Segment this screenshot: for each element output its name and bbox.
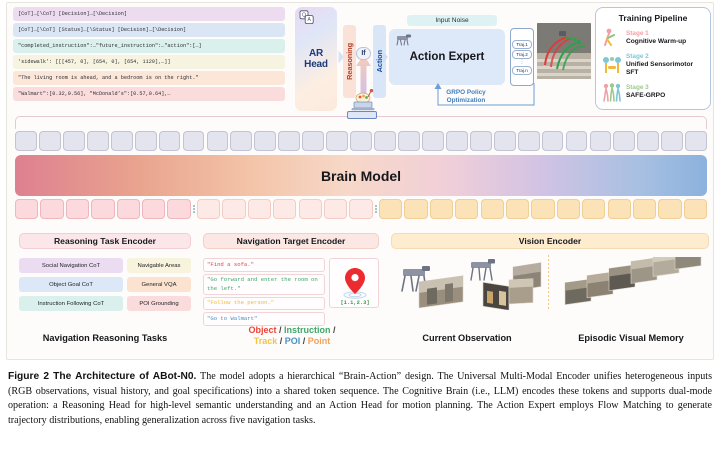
token-cell: [350, 131, 372, 151]
training-stage-number: Stage 1: [626, 30, 704, 38]
training-stage-icon: [602, 27, 622, 49]
token-line: "completed_instruction":…"future_instruc…: [13, 39, 285, 53]
modality-legend-separator: /: [277, 336, 285, 346]
modality-legend-separator: /: [331, 325, 336, 335]
training-pipeline-card: Training Pipeline Stage 1Cognitive Warm-…: [595, 7, 711, 110]
chevron-right-icon-2: [382, 50, 389, 64]
grpo-line2: Optimization: [447, 97, 486, 104]
token-cell: [15, 199, 38, 219]
token-line: "Walmart":[0.32,0.56], "McDonald’s":[0.5…: [13, 87, 285, 101]
token-cell: [455, 199, 478, 219]
traj-ellipsis: ⋮: [520, 60, 525, 65]
figure-caption-title: Figure 2 The Architecture of ABot-N0.: [8, 371, 196, 382]
token-cell: [633, 199, 656, 219]
current-observation-multi-view: [469, 258, 543, 310]
token-cell: [222, 199, 245, 219]
navigation-target-line: "Follow the person.": [203, 297, 325, 311]
reasoning-task-tag: Object Goal CoT: [19, 277, 123, 292]
mode-switch-arrow-icon: [355, 55, 372, 93]
token-cell: [87, 131, 109, 151]
training-stage-name: SAFE-GRPO: [626, 92, 704, 100]
navigation-tasks-caption: Navigation Reasoning Tasks: [17, 333, 193, 343]
trajectory-list: Traj.1Traj.2⋮Traj.n: [510, 28, 534, 86]
vision-encoder-header: Vision Encoder: [391, 233, 709, 249]
token-cell: [248, 199, 271, 219]
token-cell: [278, 131, 300, 151]
token-cell: [590, 131, 612, 151]
token-cell: [506, 199, 529, 219]
action-expert-block: Action Expert: [389, 29, 505, 85]
point-goal-box: [1.1,2.3]: [329, 258, 379, 308]
laptop-icon: [350, 89, 376, 111]
navigation-target-line: "Go to Walmart": [203, 312, 325, 326]
token-cell: [374, 131, 396, 151]
reasoning-label: Reasoning: [345, 43, 354, 80]
grpo-line1: GRPO Policy: [446, 89, 485, 96]
training-stage-row: Stage 1Cognitive Warm-up: [602, 26, 704, 50]
reasoning-task-tag: POI Grounding: [127, 296, 191, 311]
figure-caption: Figure 2 The Architecture of ABot-N0. Th…: [8, 370, 712, 429]
token-cell: [404, 199, 427, 219]
token-cell: [422, 131, 444, 151]
token-separator: [375, 199, 377, 219]
architecture-figure: [CoT]…[\CoT] [Decision]…[\Decision][CoT]…: [6, 2, 714, 360]
token-cell: [637, 131, 659, 151]
navigation-target-line: "Find a sofa.": [203, 258, 325, 272]
token-cell: [518, 131, 540, 151]
reasoning-task-tag: Social Navigation CoT: [19, 258, 123, 273]
token-cell: [183, 131, 205, 151]
token-cell: [39, 131, 61, 151]
reasoning-tags-left-column: Social Navigation CoTObject Goal CoTInst…: [19, 258, 123, 311]
reasoning-task-encoder-header: Reasoning Task Encoder: [19, 233, 191, 249]
token-cell: [159, 131, 181, 151]
token-cell: [15, 131, 37, 151]
token-cell: [135, 131, 157, 151]
token-cell: [167, 199, 190, 219]
brain-model-bar: Brain Model: [15, 155, 707, 196]
token-line: [CoT]…[\CoT] [Status]…[\Status] [Decisio…: [13, 23, 285, 37]
modality-legend-item: Point: [308, 336, 331, 346]
modality-legend-item: Track: [254, 336, 278, 346]
navigation-target-line: "Go forward and enter the room on the le…: [203, 274, 325, 295]
token-cell: [398, 131, 420, 151]
token-cell: [446, 131, 468, 151]
reasoning-task-tag: Navigable Areas: [127, 258, 191, 273]
reasoning-task-tag: General VQA: [127, 277, 191, 292]
brain-model-label: Brain Model: [321, 168, 401, 184]
token-cell: [299, 199, 322, 219]
current-observation-single-view: [397, 263, 467, 309]
ar-head-line2: Head: [304, 59, 328, 70]
token-cell: [685, 131, 707, 151]
output-token-row: [15, 131, 707, 151]
token-cell: [63, 131, 85, 151]
navigation-target-texts: "Find a sofa.""Go forward and enter the …: [203, 258, 325, 326]
modality-legend-item: Instruction: [284, 325, 331, 335]
token-cell: [326, 131, 348, 151]
training-stage-icon: [602, 54, 622, 76]
grpo-policy-label: GRPO Policy Optimization: [420, 89, 512, 105]
token-cell: [608, 199, 631, 219]
token-cell: [661, 131, 683, 151]
current-observation-caption: Current Observation: [391, 333, 543, 343]
token-cell: [40, 199, 63, 219]
token-cell: [66, 199, 89, 219]
token-line: [CoT]…[\CoT] [Decision]…[\Decision]: [13, 7, 285, 21]
token-cell: [613, 131, 635, 151]
token-cell: [684, 199, 707, 219]
token-cell: [494, 131, 516, 151]
token-line: 'sidewalk': [[[457, 0], [654, 0], [654, …: [13, 55, 285, 69]
input-noise-label: Input Noise: [407, 15, 497, 26]
training-stage-name: Unified Sensorimotor SFT: [626, 61, 704, 77]
action-expert-label: Action Expert: [410, 51, 485, 63]
modality-legend-item: Object: [248, 325, 276, 335]
episodic-memory-caption: Episodic Visual Memory: [553, 333, 709, 343]
token-cell: [207, 131, 229, 151]
training-stage-number: Stage 3: [626, 84, 704, 92]
ar-head-block: Q A AR Head: [295, 7, 337, 111]
training-pipeline-title: Training Pipeline: [602, 13, 704, 23]
token-cell: [557, 199, 580, 219]
traj-item: Traj.n: [512, 66, 532, 75]
qa-translate-icon: Q A: [299, 10, 315, 25]
vision-divider: [548, 255, 549, 309]
figure-page: [CoT]…[\CoT] [Decision]…[\Decision][CoT]…: [0, 0, 720, 460]
episodic-visual-memory-stack: [563, 257, 705, 309]
training-stage-row: Stage 2Unified Sensorimotor SFT: [602, 53, 704, 77]
ar-head-line1: AR: [309, 48, 323, 59]
token-line: "The living room is ahead, and a bedroom…: [13, 71, 285, 85]
reasoning-tags-right-column: Navigable AreasGeneral VQAPOI Grounding: [127, 258, 191, 311]
token-cell: [324, 199, 347, 219]
token-cell: [302, 131, 324, 151]
token-cell: [142, 199, 165, 219]
bracket-connector-tab: [347, 111, 377, 119]
reasoning-task-tags: Social Navigation CoTObject Goal CoTInst…: [19, 258, 191, 311]
trajectory-visualization-photo: [537, 23, 591, 79]
token-cell: [531, 199, 554, 219]
traj-item: Traj.2: [512, 50, 532, 59]
if-condition-badge: If: [356, 47, 371, 60]
token-cell: [254, 131, 276, 151]
quadruped-robot-icon: [394, 33, 414, 47]
navigation-target-encoder-header: Navigation Target Encoder: [203, 233, 379, 249]
if-label: If: [361, 50, 365, 57]
token-cell: [481, 199, 504, 219]
token-cell: [379, 199, 402, 219]
token-cell: [273, 199, 296, 219]
point-coordinate-label: [1.1,2.3]: [331, 300, 379, 306]
vision-encoder-body: or: [391, 255, 709, 311]
training-stage-number: Stage 2: [626, 53, 704, 61]
token-cell: [470, 131, 492, 151]
top-band: [CoT]…[\CoT] [Decision]…[\Decision][CoT]…: [7, 3, 715, 116]
token-cell: [582, 199, 605, 219]
reasoning-task-tag: Instruction Following CoT: [19, 296, 123, 311]
token-cell: [117, 199, 140, 219]
modality-legend: Object / Instruction / Track / POI / Poi…: [203, 325, 381, 347]
token-cell: [230, 131, 252, 151]
input-token-row: [15, 199, 707, 219]
output-token-lines: [CoT]…[\CoT] [Decision]…[\Decision][CoT]…: [13, 7, 285, 101]
token-cell: [349, 199, 372, 219]
training-stage-name: Cognitive Warm-up: [626, 38, 704, 46]
modality-legend-separator: /: [276, 325, 284, 335]
token-cell: [91, 199, 114, 219]
token-cell: [111, 131, 133, 151]
modality-legend-item: POI: [285, 336, 301, 346]
training-stage-row: Stage 3SAFE-GRPO: [602, 80, 704, 104]
token-cell: [542, 131, 564, 151]
token-cell: [566, 131, 588, 151]
token-separator: [193, 199, 195, 219]
token-cell: [430, 199, 453, 219]
traj-item: Traj.1: [512, 40, 532, 49]
token-cell: [658, 199, 681, 219]
token-cell: [197, 199, 220, 219]
ar-head-label: AR Head: [304, 48, 328, 70]
modality-legend-separator: /: [300, 336, 308, 346]
training-stage-icon: [602, 81, 622, 103]
